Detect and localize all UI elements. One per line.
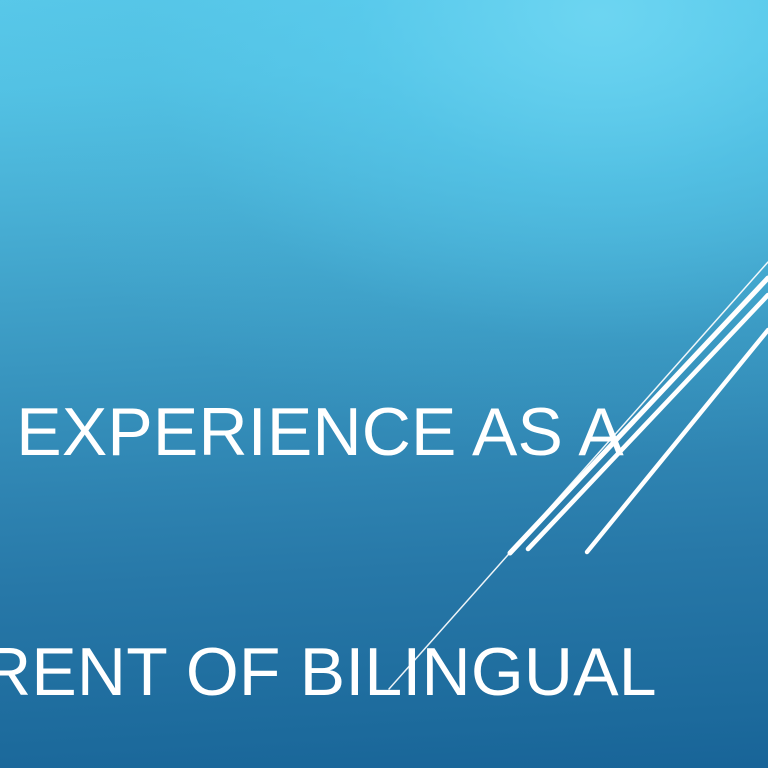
page-title: MY EXPERIENCE AS A PARENT OF BILINGUAL C… — [0, 232, 768, 768]
page-title-line-1: MY EXPERIENCE AS A — [0, 392, 768, 472]
page-title-line-2: PARENT OF BILINGUAL — [0, 632, 768, 712]
title-slide: MY EXPERIENCE AS A PARENT OF BILINGUAL C… — [0, 0, 768, 768]
